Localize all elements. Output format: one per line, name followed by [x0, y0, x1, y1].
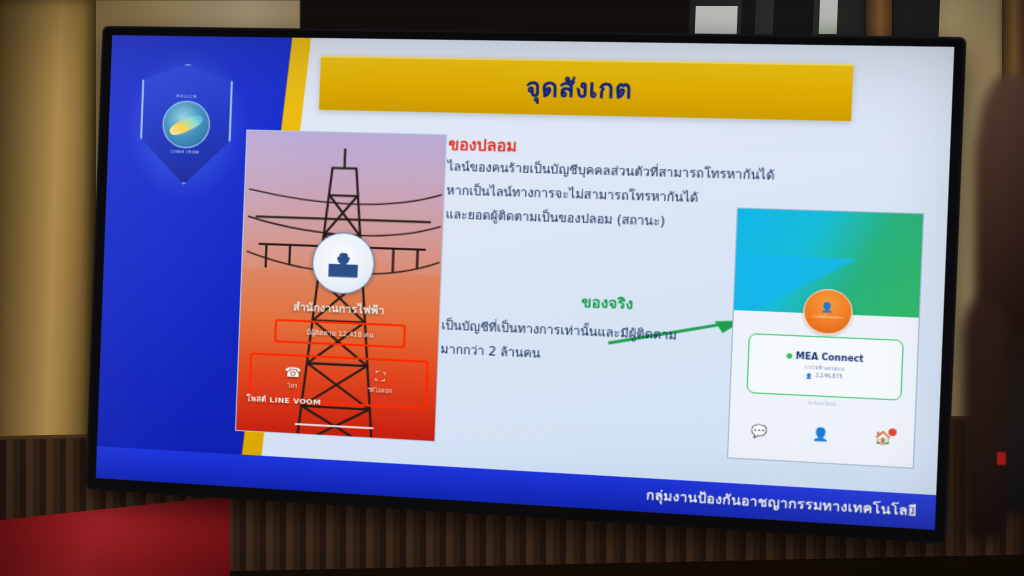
- wall-mounted-tv: POLICE CYBER CRIME จุดสังเกต: [87, 28, 964, 542]
- presentation-slide: POLICE CYBER CRIME จุดสังเกต: [96, 35, 955, 530]
- real-account-annotation-box: MEA Connect การไฟฟ้านครหลวง 👤 2,146,875: [747, 333, 904, 400]
- page-title: จุดสังเกต: [525, 67, 633, 110]
- police-cyber-crime-badge: POLICE CYBER CRIME: [138, 63, 234, 186]
- avatar-caption: การไฟฟ้านครหลวง: [812, 314, 843, 321]
- fake-call-label: โทร: [287, 383, 297, 392]
- real-account-sub: การไฟฟ้านครหลวง: [804, 364, 845, 373]
- real-line-2: มากกว่า 2 ล้านคน: [440, 344, 748, 370]
- video-icon: ⛶: [375, 369, 385, 385]
- avatar: 👤 การไฟฟ้านครหลวง: [803, 288, 854, 336]
- follower-count-row: 👤 2,146,875: [806, 373, 843, 381]
- follower-count: 2,146,875: [815, 374, 842, 381]
- fake-video-action: ⛶ วิดีโอคอล: [367, 369, 392, 396]
- tv-bezel: POLICE CYBER CRIME จุดสังเกต: [87, 28, 964, 542]
- red-indicator-light: [997, 452, 1006, 465]
- real-account-name-row: MEA Connect: [786, 351, 863, 364]
- fake-line-2: หากเป็นไลน์ทางการจะไม่สามารถโทรหากันได้: [446, 185, 870, 210]
- fake-call-action: ☎ โทร: [284, 365, 302, 391]
- add-friend-icon: 👤: [812, 428, 830, 442]
- official-badge-icon: [786, 353, 792, 359]
- fake-status-text: มีผู้ติดตาม 12,418 คน: [306, 327, 373, 340]
- person-icon: 👤: [821, 304, 834, 314]
- blurred-person-arm: [962, 300, 1008, 540]
- notification-badge: [888, 428, 896, 436]
- fake-video-label: วิดีโอคอล: [367, 387, 392, 396]
- home-icon: 🏠: [874, 431, 892, 445]
- badge-sub-label: CYBER CRIME: [170, 150, 199, 155]
- tv-screen: POLICE CYBER CRIME จุดสังเกต: [96, 35, 955, 530]
- fake-line-profile-screenshot: สำนักงานการไฟฟ้า มีผู้ติดตาม 12,418 คน ☎…: [234, 129, 447, 441]
- fake-section-heading: ของปลอม: [448, 133, 518, 160]
- followers-icon: 👤: [806, 373, 813, 380]
- profile-tab-bar: 💬 👤 🏠: [728, 412, 915, 457]
- slide-title-bar: จุดสังเกต: [319, 55, 854, 121]
- wall-pilaster: [0, 0, 96, 470]
- badge-emblem-icon: [161, 101, 210, 150]
- real-line-profile-screenshot: 👤 การไฟฟ้านครหลวง MEA Connect การไฟฟ้านค…: [727, 207, 925, 468]
- phone-icon: ☎: [284, 365, 301, 381]
- chat-icon: 💬: [751, 424, 768, 438]
- real-account-name: MEA Connect: [796, 351, 864, 364]
- badge-top-label: POLICE: [176, 94, 197, 99]
- photo-scene: POLICE CYBER CRIME จุดสังเกต: [0, 0, 1024, 576]
